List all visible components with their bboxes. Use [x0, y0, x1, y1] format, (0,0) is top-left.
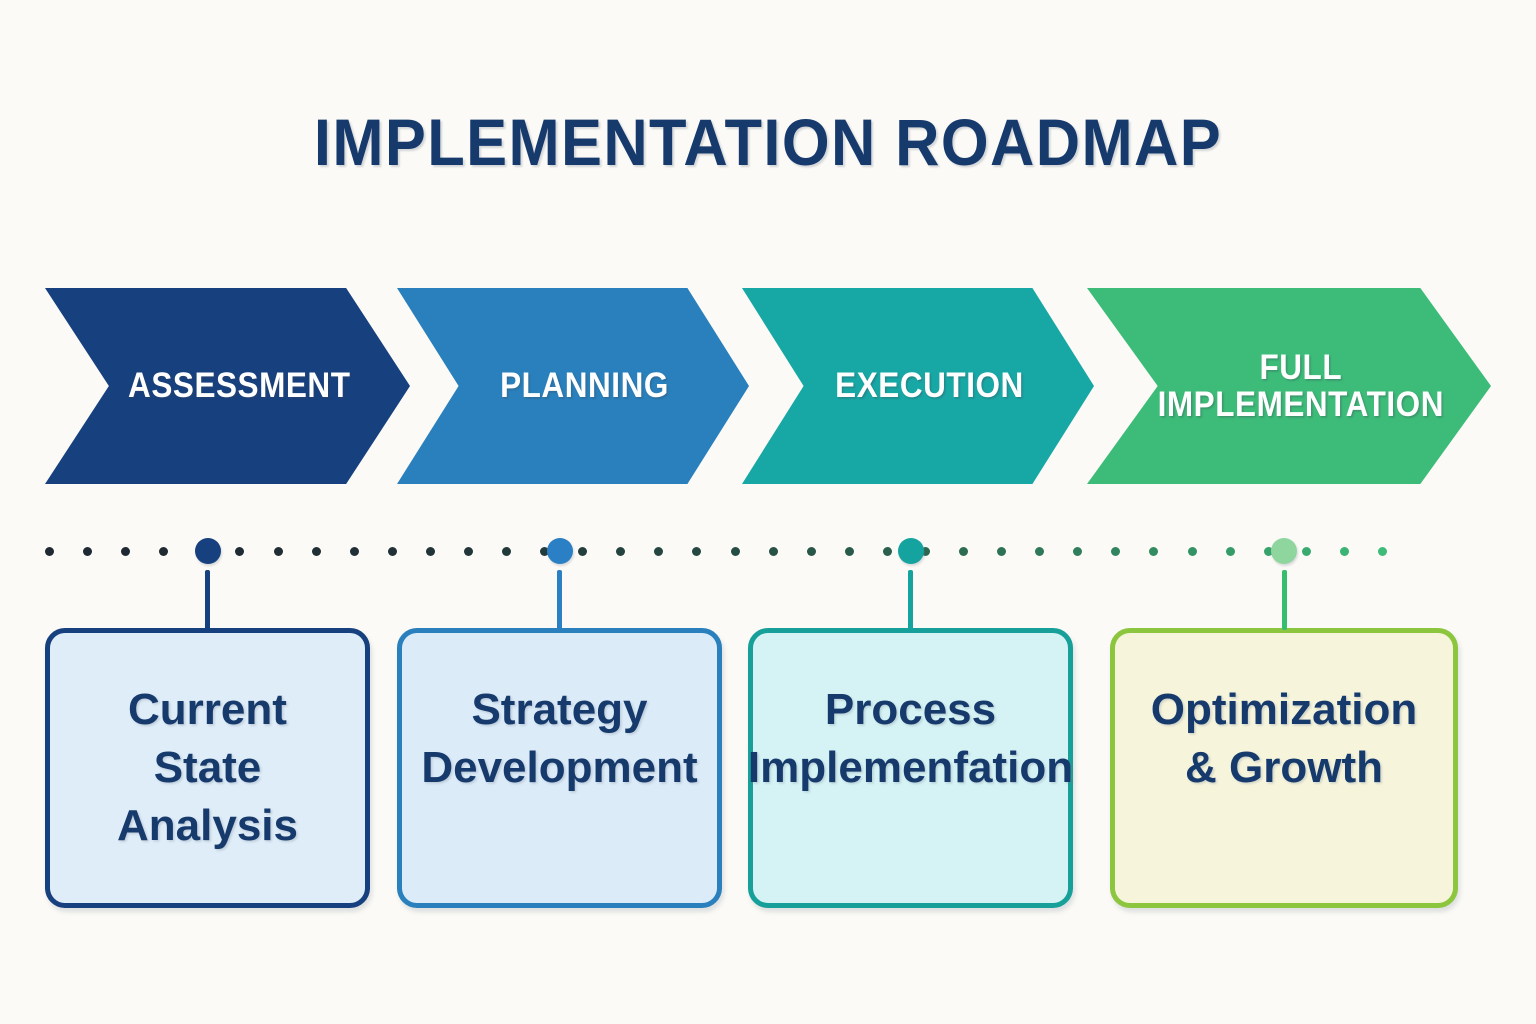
timeline-dot — [1378, 547, 1387, 556]
timeline-dot — [769, 547, 778, 556]
timeline-dot — [883, 547, 892, 556]
timeline-track — [0, 535, 1536, 575]
connector-line-1 — [205, 570, 210, 630]
milestone-dot-1[interactable] — [195, 538, 221, 564]
phase-card-3[interactable]: Process Implemenfation — [748, 628, 1073, 908]
milestone-dot-2[interactable] — [547, 538, 573, 564]
phase-card-1[interactable]: Current State Analysis — [45, 628, 370, 908]
phase-chevron-label: FULL IMPLEMENTATION — [1134, 349, 1444, 423]
page-title: IMPLEMENTATION ROADMAP — [54, 104, 1482, 180]
timeline-dot — [959, 547, 968, 556]
timeline-dot — [1302, 547, 1311, 556]
phase-card-label: Current State Analysis — [107, 681, 308, 855]
timeline-dot — [274, 547, 283, 556]
timeline-dot — [426, 547, 435, 556]
milestone-dot-3[interactable] — [898, 538, 924, 564]
milestone-dot-4[interactable] — [1271, 538, 1297, 564]
timeline-dot — [1149, 547, 1158, 556]
timeline-dot — [731, 547, 740, 556]
timeline-dot — [312, 547, 321, 556]
timeline-dot — [692, 547, 701, 556]
timeline-dot — [45, 547, 54, 556]
timeline-dot — [578, 547, 587, 556]
timeline-dot — [1111, 547, 1120, 556]
roadmap-diagram: IMPLEMENTATION ROADMAP ASSESSMENTPLANNIN… — [0, 0, 1536, 1024]
phase-card-4[interactable]: Optimization & Growth — [1110, 628, 1458, 908]
timeline-dot — [1188, 547, 1197, 556]
phase-card-label: Process Implemenfation — [738, 681, 1083, 797]
phase-card-label: Optimization & Growth — [1141, 681, 1427, 797]
phase-chevron-1[interactable]: ASSESSMENT — [45, 288, 410, 484]
connector-line-4 — [1282, 570, 1287, 630]
timeline-dot — [83, 547, 92, 556]
timeline-dot — [1226, 547, 1235, 556]
timeline-dot — [654, 547, 663, 556]
timeline-dot — [464, 547, 473, 556]
timeline-dot — [350, 547, 359, 556]
timeline-dot — [807, 547, 816, 556]
connector-line-2 — [557, 570, 562, 630]
timeline-dot — [616, 547, 625, 556]
timeline-dot — [502, 547, 511, 556]
phase-card-2[interactable]: Strategy Development — [397, 628, 722, 908]
timeline-dot — [845, 547, 854, 556]
phase-chevron-2[interactable]: PLANNING — [397, 288, 749, 484]
timeline-dot — [121, 547, 130, 556]
timeline-dot — [1073, 547, 1082, 556]
timeline-dot — [997, 547, 1006, 556]
connector-line-3 — [908, 570, 913, 630]
timeline-dot — [1340, 547, 1349, 556]
phase-chevron-label: ASSESSMENT — [105, 367, 351, 404]
timeline-dot — [235, 547, 244, 556]
timeline-dot — [1035, 547, 1044, 556]
phase-chevron-3[interactable]: EXECUTION — [742, 288, 1094, 484]
phase-chevron-4[interactable]: FULL IMPLEMENTATION — [1087, 288, 1491, 484]
phase-chevron-label: PLANNING — [477, 367, 669, 404]
phase-card-label: Strategy Development — [411, 681, 707, 797]
phase-chevron-band: ASSESSMENTPLANNINGEXECUTIONFULL IMPLEMEN… — [0, 288, 1536, 484]
timeline-dot — [388, 547, 397, 556]
phase-card-row: Current State AnalysisStrategy Developme… — [0, 628, 1536, 918]
phase-chevron-label: EXECUTION — [812, 367, 1024, 404]
timeline-dot — [159, 547, 168, 556]
